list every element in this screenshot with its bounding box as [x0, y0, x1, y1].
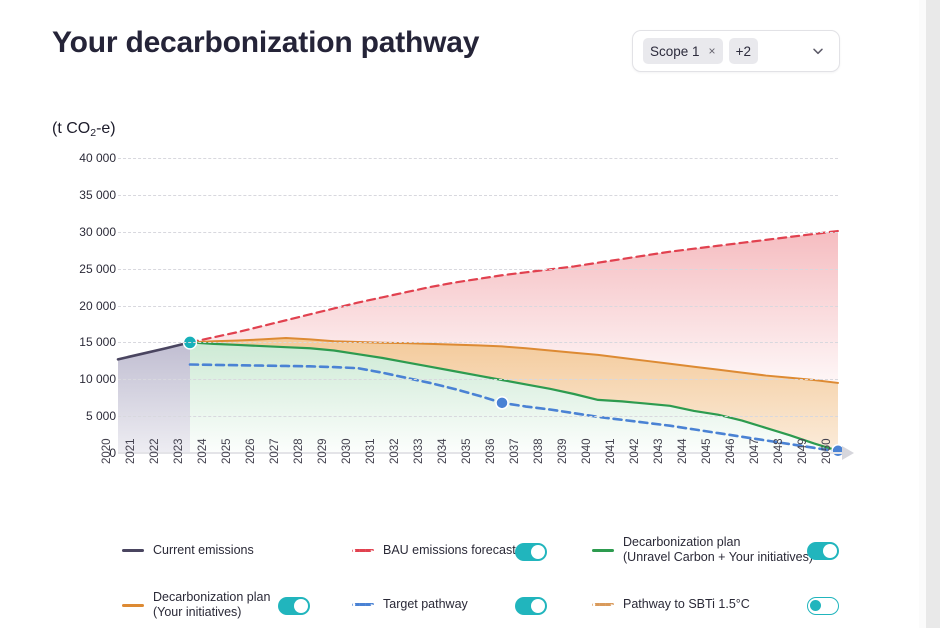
gridline	[118, 416, 838, 417]
legend-label-bau-emissions-forecast: BAU emissions forecast	[383, 543, 516, 558]
chart-legend: Current emissionsBAU emissions forecastD…	[0, 515, 920, 628]
legend-label-line2: (Your initiatives)	[153, 605, 270, 620]
x-axis-tick-label: 2048	[773, 438, 785, 464]
x-axis-tick-label: 2039	[557, 438, 569, 464]
x-axis-tick-label: 2032	[389, 438, 401, 464]
x-axis-tick-label: 2043	[653, 438, 665, 464]
x-axis-tick-label: 2020	[101, 438, 113, 464]
page-title: Your decarbonization pathway	[52, 26, 479, 60]
page-edge-strip-inner	[919, 0, 926, 628]
legend-item-target-pathway[interactable]: Target pathway	[352, 597, 468, 612]
toggle-decarbonization-plan-your-initiatives[interactable]	[278, 597, 310, 615]
x-axis-tick-label: 2042	[629, 438, 641, 464]
y-axis-tick-label: 20 000	[46, 299, 116, 313]
legend-label-line1: Current emissions	[153, 543, 254, 557]
y-axis-tick-label: 15 000	[46, 335, 116, 349]
legend-label-line1: Decarbonization plan	[153, 590, 270, 604]
x-axis-tick-label: 2029	[317, 438, 329, 464]
legend-item-pathway-to-sbti[interactable]: Pathway to SBTi 1.5°C	[592, 597, 750, 612]
x-axis-tick-label: 2033	[413, 438, 425, 464]
toggle-knob	[531, 545, 545, 559]
y-axis-tick-label: 5 000	[46, 409, 116, 423]
x-axis-tick-label: 2044	[677, 438, 689, 464]
page-edge-strip	[926, 0, 940, 628]
toggle-knob	[823, 544, 837, 558]
x-axis-tick-label: 2035	[461, 438, 473, 464]
legend-label-line2: (Unravel Carbon + Your initiatives)	[623, 550, 813, 565]
y-axis-tick-label: 40 000	[46, 151, 116, 165]
x-axis-tick-label: 2031	[365, 438, 377, 464]
x-axis-tick-label: 2045	[701, 438, 713, 464]
decarbonization-pathway-page: Your decarbonization pathway Scope 1 × +…	[0, 0, 940, 628]
legend-label-line1: Target pathway	[383, 597, 468, 611]
toggle-knob	[531, 599, 545, 613]
scope-overflow-chip[interactable]: +2	[729, 38, 758, 64]
legend-item-bau-emissions-forecast[interactable]: BAU emissions forecast	[352, 543, 516, 558]
scope-filter-dropdown[interactable]: Scope 1 × +2	[632, 30, 840, 72]
gridline	[118, 232, 838, 233]
chart-area: (t CO2-e) 05 00010 00015 00020 00025 000…	[0, 100, 920, 510]
legend-label-pathway-to-sbti: Pathway to SBTi 1.5°C	[623, 597, 750, 612]
toggle-decarbonization-plan-unravel[interactable]	[807, 542, 839, 560]
x-axis-tick-label: 2034	[437, 438, 449, 464]
x-axis-tick-label: 2024	[197, 438, 209, 464]
legend-swatch-pathway-to-sbti	[592, 603, 614, 606]
chevron-down-icon[interactable]	[811, 44, 825, 58]
header: Your decarbonization pathway Scope 1 × +…	[0, 0, 920, 100]
scope-chip-label: Scope 1	[650, 44, 700, 59]
legend-item-decarbonization-plan-unravel[interactable]: Decarbonization plan(Unravel Carbon + Yo…	[592, 535, 813, 565]
x-axis-tick-label: 2041	[605, 438, 617, 464]
gridline	[118, 269, 838, 270]
legend-label-line1: Decarbonization plan	[623, 535, 740, 549]
x-axis-tick-label: 2023	[173, 438, 185, 464]
toggle-knob	[294, 599, 308, 613]
x-axis-tick-label: 2050	[821, 438, 833, 464]
y-axis-unit-tail: -e)	[96, 120, 116, 137]
legend-label-decarbonization-plan-your-initiatives: Decarbonization plan(Your initiatives)	[153, 590, 270, 620]
x-axis-tick-label: 2037	[509, 438, 521, 464]
legend-label-decarbonization-plan-unravel: Decarbonization plan(Unravel Carbon + Yo…	[623, 535, 813, 565]
toggle-bau-emissions-forecast[interactable]	[515, 543, 547, 561]
legend-swatch-target-pathway	[352, 603, 374, 606]
y-axis-unit-subscript: 2	[90, 127, 96, 139]
target-midpoint-marker[interactable]	[496, 397, 508, 409]
legend-swatch-bau-emissions-forecast	[352, 549, 374, 552]
gridline	[118, 158, 838, 159]
legend-swatch-current-emissions	[122, 549, 144, 552]
gridline	[118, 379, 838, 380]
x-axis-tick-label: 2030	[341, 438, 353, 464]
legend-swatch-decarbonization-plan-unravel	[592, 549, 614, 552]
plot-canvas: 05 00010 00015 00020 00025 00030 00035 0…	[118, 158, 838, 453]
x-axis-tick-label: 2026	[245, 438, 257, 464]
x-axis-tick-label: 2047	[749, 438, 761, 464]
y-axis-tick-label: 10 000	[46, 372, 116, 386]
legend-label-line1: BAU emissions forecast	[383, 543, 516, 557]
gridline	[118, 306, 838, 307]
legend-swatch-decarbonization-plan-your-initiatives	[122, 604, 144, 607]
legend-label-target-pathway: Target pathway	[383, 597, 468, 612]
x-axis-tick-label: 2036	[485, 438, 497, 464]
y-axis-unit-main: (t CO	[52, 120, 90, 137]
x-axis-tick-label: 2049	[797, 438, 809, 464]
x-axis-tick-label: 2046	[725, 438, 737, 464]
y-axis-tick-label: 25 000	[46, 262, 116, 276]
x-axis-tick-label: 2021	[125, 438, 137, 464]
legend-label-current-emissions: Current emissions	[153, 543, 254, 558]
y-axis-tick-label: 35 000	[46, 188, 116, 202]
legend-label-line1: Pathway to SBTi 1.5°C	[623, 597, 750, 611]
close-icon[interactable]: ×	[709, 45, 716, 57]
toggle-knob	[810, 600, 821, 611]
gridline	[118, 342, 838, 343]
legend-item-decarbonization-plan-your-initiatives[interactable]: Decarbonization plan(Your initiatives)	[122, 590, 270, 620]
x-axis-tick-label: 2027	[269, 438, 281, 464]
scope-chip[interactable]: Scope 1 ×	[643, 38, 723, 64]
x-axis-tick-label: 2022	[149, 438, 161, 464]
y-axis-unit-label: (t CO2-e)	[52, 120, 116, 138]
x-axis-arrow-icon	[842, 446, 854, 460]
gridline	[118, 195, 838, 196]
current-emissions-area	[118, 342, 190, 453]
x-axis-tick-label: 2038	[533, 438, 545, 464]
x-axis-tick-label: 2025	[221, 438, 233, 464]
x-axis-tick-label: 2028	[293, 438, 305, 464]
toggle-pathway-to-sbti[interactable]	[807, 597, 839, 615]
y-axis-tick-label: 30 000	[46, 225, 116, 239]
toggle-target-pathway[interactable]	[515, 597, 547, 615]
x-axis-tick-label: 2040	[581, 438, 593, 464]
legend-item-current-emissions[interactable]: Current emissions	[122, 543, 254, 558]
